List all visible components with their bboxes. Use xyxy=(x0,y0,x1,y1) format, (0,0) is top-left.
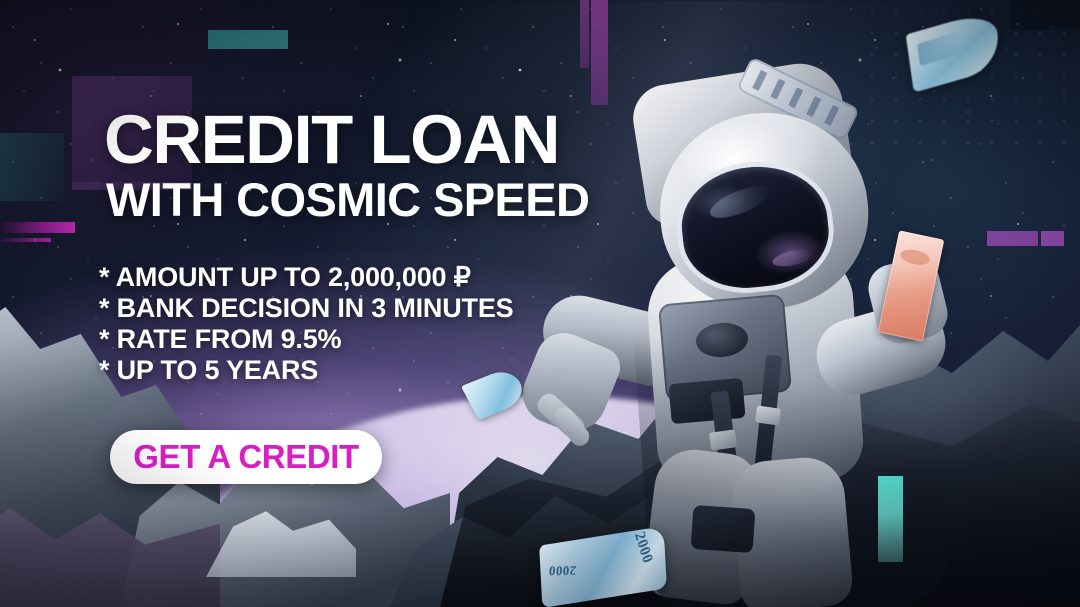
astronaut-knee-pad xyxy=(691,505,756,553)
page-subtitle: WITH COSMIC SPEED xyxy=(106,178,589,223)
credit-loan-promo-banner: 2000 2000 CREDIT LOAN WITH COSMIC SPEED … xyxy=(0,0,1080,607)
cta-button-label: GET A CREDIT xyxy=(133,438,359,476)
chest-module-block xyxy=(668,378,745,424)
get-a-credit-button[interactable]: GET A CREDIT xyxy=(110,430,382,484)
feature-list: * AMOUNT UP TO 2,000,000 ₽ * BANK DECISI… xyxy=(99,262,513,386)
suit-buckle-left xyxy=(709,429,737,450)
glitch-block-purple-right-small xyxy=(1041,231,1064,246)
list-item: * RATE FROM 9.5% xyxy=(99,324,513,355)
glitch-bar-teal-bottom xyxy=(878,476,903,562)
banknote-denomination: 2000 xyxy=(630,530,655,567)
list-item: * UP TO 5 YEARS xyxy=(99,355,513,386)
list-item: * BANK DECISION IN 3 MINUTES xyxy=(99,293,513,324)
page-title: CREDIT LOAN xyxy=(104,108,559,171)
list-item: * AMOUNT UP TO 2,000,000 ₽ xyxy=(99,262,513,293)
glitch-block-purple-right-large xyxy=(987,231,1038,246)
promo-text-content: CREDIT LOAN WITH COSMIC SPEED * AMOUNT U… xyxy=(0,0,600,607)
glitch-block-dark-top-right xyxy=(1010,0,1080,30)
suit-buckle-right xyxy=(755,405,781,425)
